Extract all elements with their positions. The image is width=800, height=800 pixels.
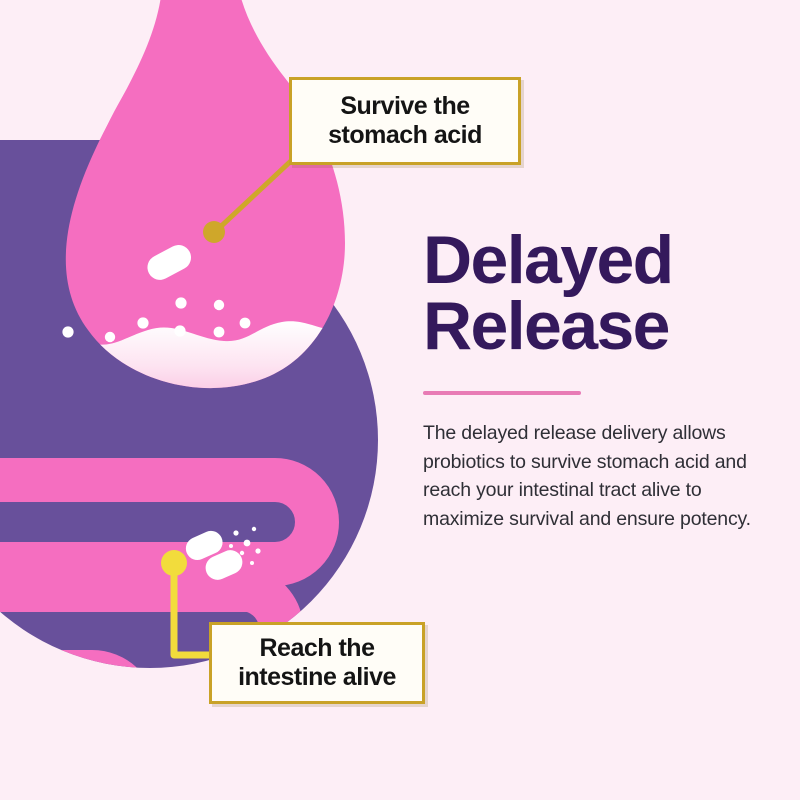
- delayed-release-infographic: Survive the stomach acid Reach the intes…: [0, 0, 800, 800]
- text-column: Delayed Release The delayed release deli…: [423, 228, 768, 534]
- callout-reach-intestine-alive: Reach the intestine alive: [209, 622, 425, 704]
- callout-survive-stomach-acid: Survive the stomach acid: [289, 77, 521, 165]
- title-divider: [423, 391, 581, 395]
- callout-intestine-text: Reach the intestine alive: [238, 634, 396, 692]
- callout-stomach-text: Survive the stomach acid: [328, 92, 482, 150]
- body-paragraph: The delayed release delivery allows prob…: [423, 419, 768, 534]
- page-title: Delayed Release: [423, 228, 768, 360]
